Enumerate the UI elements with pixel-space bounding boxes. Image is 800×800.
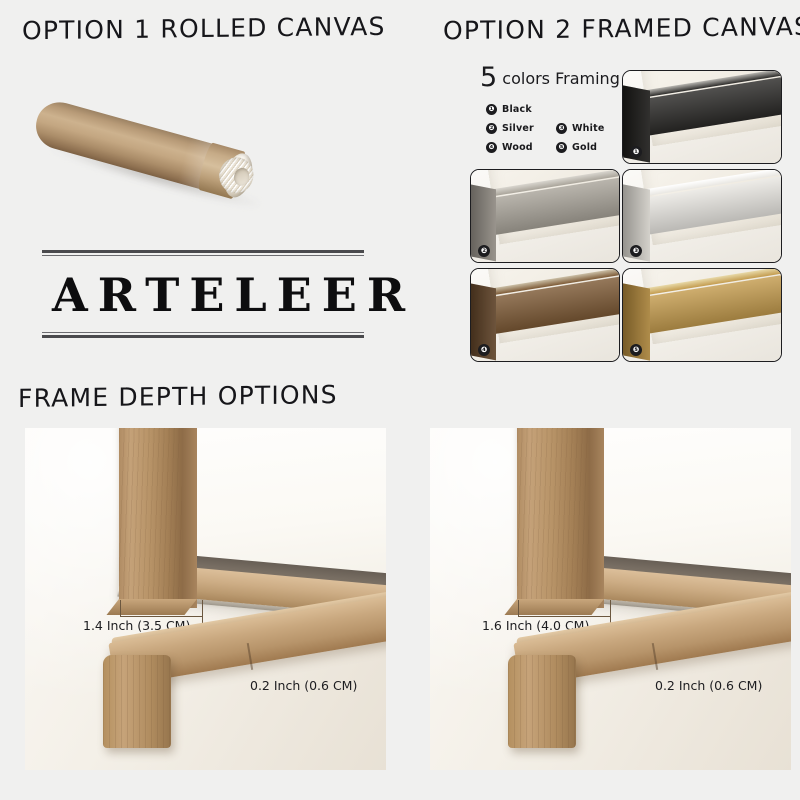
swatch-badge-2: ❷ xyxy=(478,245,490,257)
dim-tick xyxy=(518,600,519,616)
legend-label: Black xyxy=(502,104,532,115)
frame-depth-photo-right: 1.6 Inch (4.0 CM) 0.2 Inch (0.6 CM) xyxy=(430,428,791,770)
framing-legend: ❶ Black ❷ Silver ❸ White ❹ Wood xyxy=(486,104,628,161)
swatch-badge-4: ❹ xyxy=(478,344,490,356)
legend-label: Silver xyxy=(502,123,534,134)
brand-rule-top xyxy=(42,250,364,256)
frame-corner-art xyxy=(623,71,781,163)
legend-item-gold: ❺ Gold xyxy=(556,142,626,153)
frame-corner-art xyxy=(623,170,781,262)
framing-colors-section: 5 colors Framing ❶ Black ❷ Silver ❸ Whit… xyxy=(470,62,792,352)
brand-rule-bottom xyxy=(42,332,364,338)
frame-post-side xyxy=(182,428,197,608)
legend-label: Gold xyxy=(572,142,597,153)
legend-item-black: ❶ Black xyxy=(486,104,556,115)
legend-item-white: ❸ White xyxy=(556,123,626,134)
legend-label: Wood xyxy=(502,142,533,153)
brand-name: ARTELEER xyxy=(42,272,364,318)
face-label-right: 0.2 Inch (0.6 CM) xyxy=(655,678,762,693)
number-badge-5: ❺ xyxy=(556,142,567,153)
frame-vertical-post xyxy=(517,428,589,606)
framing-title: 5 colors Framing xyxy=(480,62,620,93)
frame-vertical-post xyxy=(119,428,182,606)
dim-line xyxy=(518,616,610,617)
frame-strip-end-cap xyxy=(103,655,172,747)
frame-post-side xyxy=(589,428,604,608)
legend-row: ❷ Silver ❸ White xyxy=(486,123,628,134)
dim-tick xyxy=(202,600,203,624)
dim-tick xyxy=(610,600,611,624)
frame-swatch-white[interactable]: ❸ xyxy=(622,169,782,263)
number-badge-2: ❷ xyxy=(486,123,497,134)
legend-row: ❹ Wood ❺ Gold xyxy=(486,142,628,153)
frame-corner-art xyxy=(623,269,781,361)
dim-line xyxy=(120,616,202,617)
framing-title-rest: colors Framing xyxy=(502,69,620,88)
rolled-canvas-illustration xyxy=(30,62,315,222)
number-badge-1: ❶ xyxy=(486,104,497,115)
frame-post-bottom xyxy=(504,599,603,615)
face-label-left: 0.2 Inch (0.6 CM) xyxy=(250,678,357,693)
swatch-badge-3: ❸ xyxy=(630,245,642,257)
legend-label: White xyxy=(572,123,604,134)
number-badge-3: ❸ xyxy=(556,123,567,134)
frame-corner-art xyxy=(471,269,619,361)
frame-depth-photo-left: 1.4 Inch (3.5 CM) 0.2 Inch (0.6 CM) xyxy=(25,428,386,770)
frame-swatch-silver[interactable]: ❷ xyxy=(470,169,620,263)
heading-option-1: OPTION 1 ROLLED CANVAS xyxy=(22,12,386,45)
legend-item-silver: ❷ Silver xyxy=(486,123,556,134)
infographic-page: OPTION 1 ROLLED CANVAS ARTELEER OPTION 2… xyxy=(0,0,800,800)
brand-block: ARTELEER xyxy=(42,250,364,338)
swatch-badge-1: ❶ xyxy=(630,146,642,158)
swatch-badge-5: ❺ xyxy=(630,344,642,356)
frame-swatch-black[interactable]: ❶ xyxy=(622,70,782,164)
shipping-tube xyxy=(31,97,249,199)
frame-swatch-gold[interactable]: ❺ xyxy=(622,268,782,362)
legend-row: ❶ Black xyxy=(486,104,628,115)
legend-item-wood: ❹ Wood xyxy=(486,142,556,153)
heading-frame-depth: FRAME DEPTH OPTIONS xyxy=(18,380,338,413)
frame-swatch-wood[interactable]: ❹ xyxy=(470,268,620,362)
dim-tick xyxy=(120,600,121,616)
frame-corner-art xyxy=(471,170,619,262)
heading-option-2: OPTION 2 FRAMED CANVAS xyxy=(443,12,800,45)
framing-count: 5 xyxy=(480,62,497,93)
number-badge-4: ❹ xyxy=(486,142,497,153)
frame-strip-end-cap xyxy=(508,655,577,747)
